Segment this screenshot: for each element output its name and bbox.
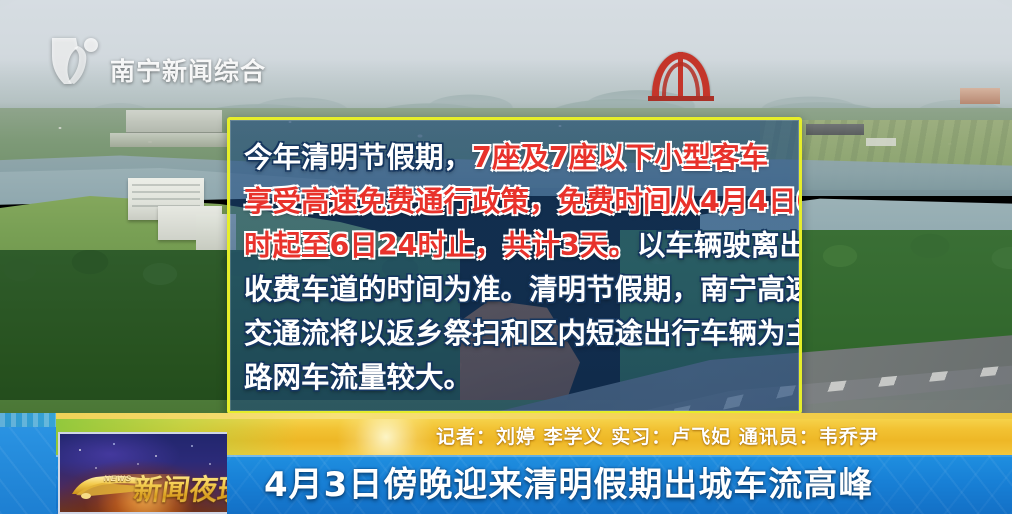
headline-text: 4月3日傍晚迎来清明假期出城车流高峰 xyxy=(264,461,873,509)
channel-v-logo-icon xyxy=(48,32,104,90)
overlay-segment-white: 路网车流量较大。 xyxy=(244,361,472,394)
overlay-segment-red: 7座及7座以下小型客车 xyxy=(472,141,768,174)
overlay-segment-white: 今年清明节假期， xyxy=(244,141,472,174)
hillside-building-b xyxy=(110,133,230,147)
overlay-segment-red: 时起至6日24时止，共计3天。 xyxy=(244,229,637,262)
red-roof-house xyxy=(960,88,1000,104)
channel-name-text: 南宁新闻综合 xyxy=(110,52,266,88)
overlay-line-5: 交通流将以返乡祭扫和区内短途出行车辆为主， xyxy=(244,312,789,356)
lower-third: 记者：刘婷 李学义 实习：卢飞妃 通讯员：韦乔尹 4月3日傍晚迎来清明假期出城车… xyxy=(0,405,1012,514)
bridge-deck xyxy=(648,96,714,101)
red-arch-bridge xyxy=(648,52,714,114)
overlay-line-3: 时起至6日24时止，共计3天。以车辆驶离出口 xyxy=(244,224,789,268)
overlay-line-2: 享受高速免费通行政策，免费时间从4月4日0 xyxy=(244,180,789,224)
blue-left-sliver xyxy=(0,427,58,514)
overlay-segment-red: 享受高速免费通行政策，免费时间从4月4日0 xyxy=(244,185,802,218)
broadcast-screen: 南宁新闻综合 今年清明节假期，7座及7座以下小型客车享受高速免费通行政策，免费时… xyxy=(0,0,1012,514)
channel-bug: 南宁新闻综合 xyxy=(48,32,266,90)
hillside-building-a xyxy=(126,110,222,134)
overlay-line-4: 收费车道的时间为准。清明节假期，南宁高速 xyxy=(244,268,789,312)
overlay-segment-white: 收费车道的时间为准。清明节假期，南宁高速 xyxy=(244,273,802,306)
small-roof xyxy=(866,138,896,146)
credit-text: 记者：刘婷 李学义 实习：卢飞妃 通讯员：韦乔尹 xyxy=(436,424,879,450)
warehouse-roof xyxy=(806,124,864,135)
overlay-line-6: 路网车流量较大。 xyxy=(244,356,789,400)
overlay-segment-white: 交通流将以返乡祭扫和区内短途出行车辆为主， xyxy=(244,317,802,350)
overlay-segment-white: 以车辆驶离出口 xyxy=(637,229,802,262)
program-logo-box: NEWS 新闻夜班 xyxy=(58,432,227,514)
news-text-overlay: 今年清明节假期，7座及7座以下小型客车享受高速免费通行政策，免费时间从4月4日0… xyxy=(227,117,802,414)
overlay-line-1: 今年清明节假期，7座及7座以下小型客车 xyxy=(244,136,789,180)
logo-news-label: NEWS xyxy=(103,474,133,483)
logo-title-text: 新闻夜班 xyxy=(131,468,227,508)
